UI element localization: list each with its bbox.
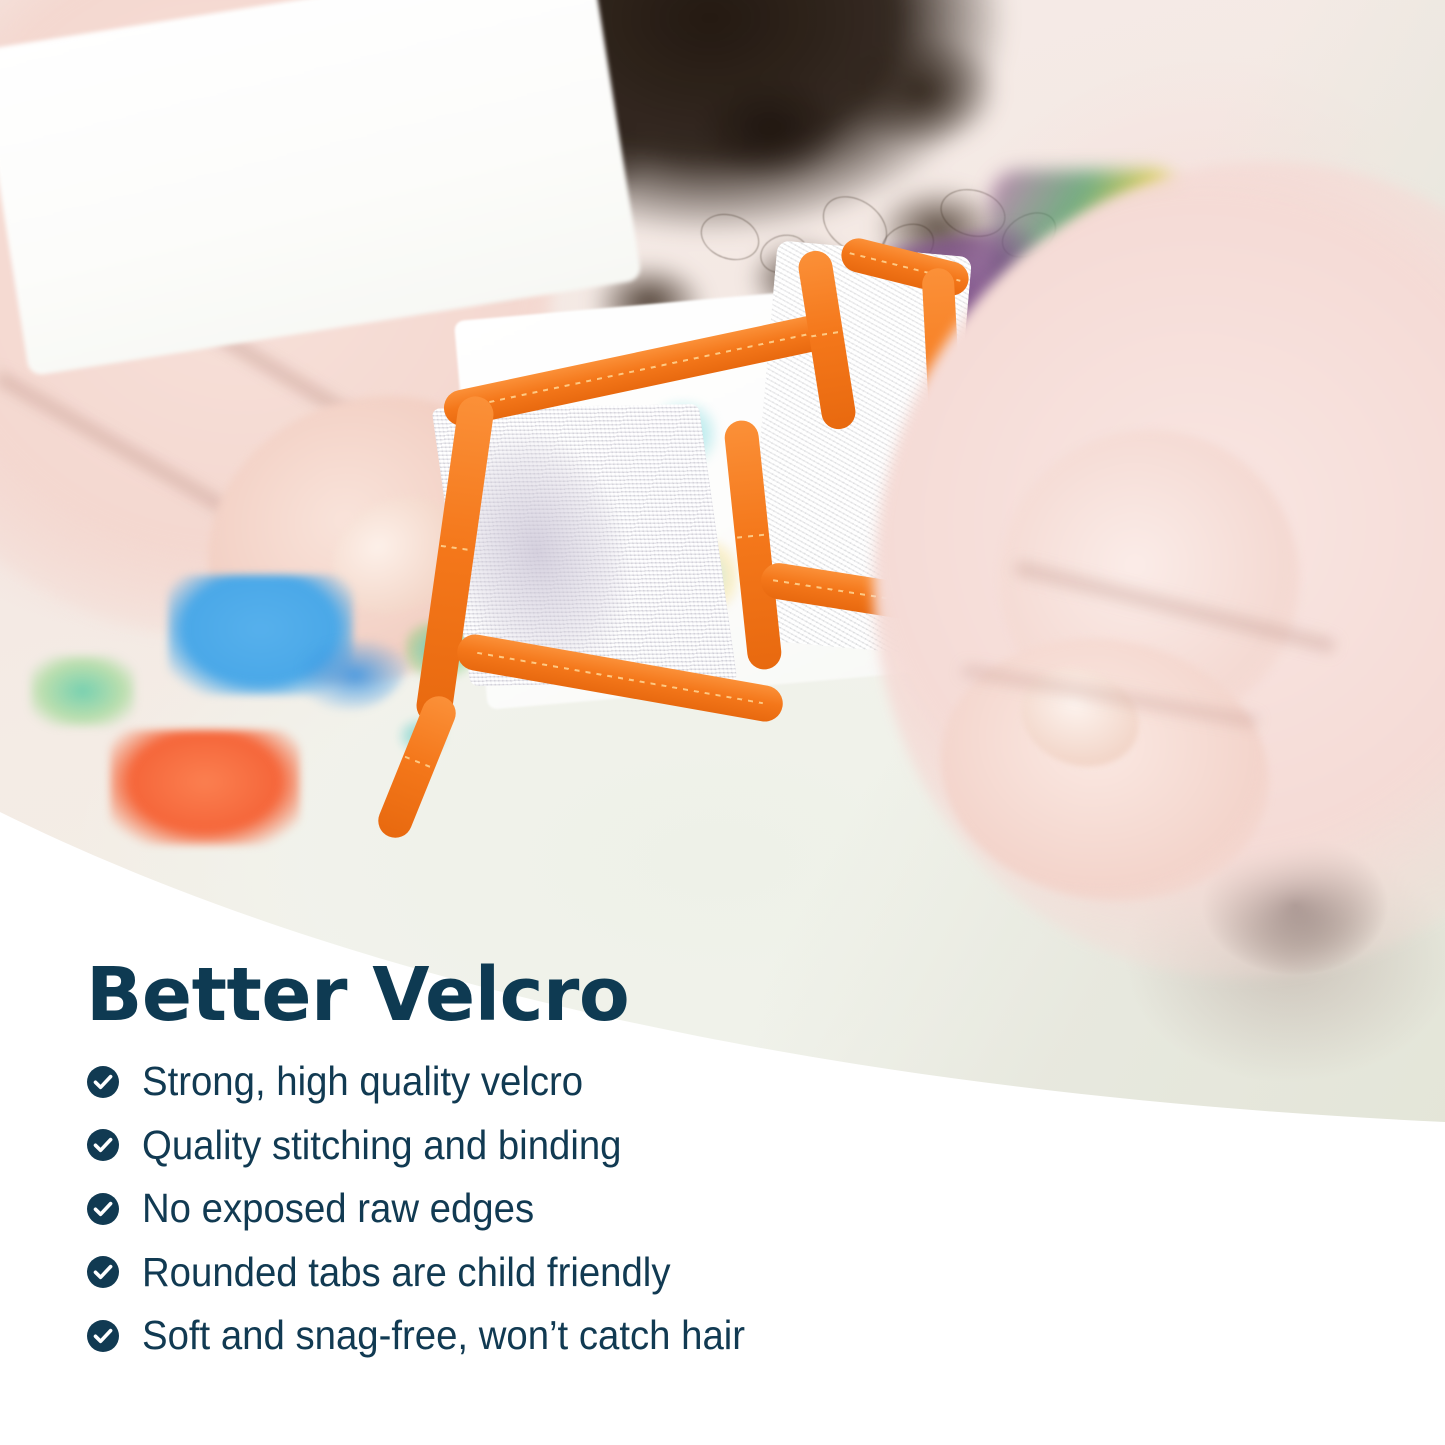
check-circle-icon xyxy=(86,1192,120,1226)
list-item-label: No exposed raw edges xyxy=(142,1188,534,1229)
list-item-label: Rounded tabs are child friendly xyxy=(142,1252,670,1293)
list-item-label: Soft and snag-free, won’t catch hair xyxy=(142,1315,745,1356)
feature-list: Strong, high quality velcro Quality stit… xyxy=(86,1050,1186,1368)
list-item: Strong, high quality velcro xyxy=(86,1050,1186,1114)
list-item: Quality stitching and binding xyxy=(86,1114,1186,1178)
page-title: Better Velcro xyxy=(86,958,629,1032)
check-circle-icon xyxy=(86,1128,120,1162)
list-item-label: Quality stitching and binding xyxy=(142,1125,621,1166)
product-feature-card: Better Velcro Strong, high quality velcr… xyxy=(0,0,1445,1445)
check-circle-icon xyxy=(86,1255,120,1289)
list-item: Soft and snag-free, won’t catch hair xyxy=(86,1304,1186,1368)
list-item: Rounded tabs are child friendly xyxy=(86,1241,1186,1305)
list-item: No exposed raw edges xyxy=(86,1177,1186,1241)
list-item-label: Strong, high quality velcro xyxy=(142,1061,583,1102)
check-circle-icon xyxy=(86,1319,120,1353)
feature-text-block: Better Velcro Strong, high quality velcr… xyxy=(0,0,1445,1445)
check-circle-icon xyxy=(86,1065,120,1099)
